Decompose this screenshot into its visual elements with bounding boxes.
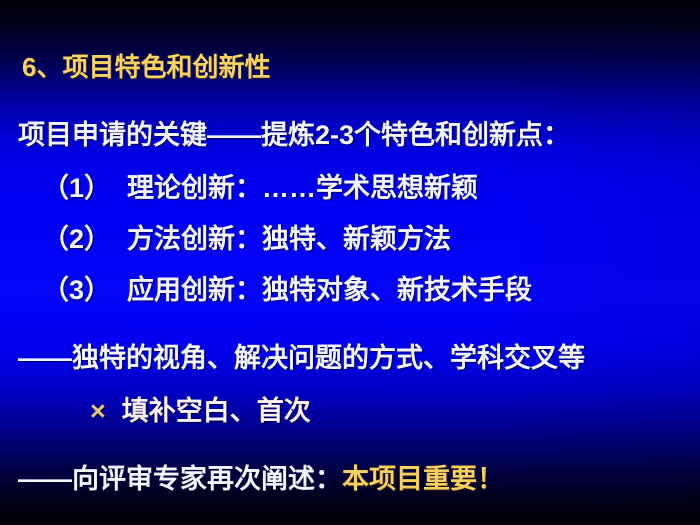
list-item-2: （2）方法创新：独特、新颖方法 [42,217,451,256]
cross-icon: × [90,396,106,426]
list-item-2-text: 方法创新：独特、新颖方法 [127,224,451,254]
slide-title: 6、项目特色和创新性 [22,47,270,84]
slide-content: 6、项目特色和创新性 项目申请的关键——提炼2-3个特色和创新点： （1）理论创… [0,0,700,525]
conclusion-line: ——向评审专家再次阐述：本项目重要！ [18,457,504,496]
conclusion-emphasis-text: 本项目重要！ [342,464,504,494]
list-item-1: （1）理论创新：……学术思想新颖 [42,166,478,205]
conclusion-lead-text: ——向评审专家再次阐述： [18,464,342,494]
list-item-3-number: （3） [42,275,111,305]
key-point-line: 项目申请的关键——提炼2-3个特色和创新点： [18,113,570,152]
cross-note-line: ×填补空白、首次 [90,389,311,428]
list-item-2-number: （2） [42,224,111,254]
list-item-1-text: 理论创新：……学术思想新颖 [127,173,478,203]
slide-canvas: 6、项目特色和创新性 项目申请的关键——提炼2-3个特色和创新点： （1）理论创… [0,0,700,525]
perspective-line: ——独特的视角、解决问题的方式、学科交叉等 [18,336,585,375]
list-item-1-number: （1） [42,173,111,203]
cross-note-text: 填补空白、首次 [122,396,311,426]
list-item-3-text: 应用创新：独特对象、新技术手段 [127,275,532,305]
list-item-3: （3）应用创新：独特对象、新技术手段 [42,268,532,307]
